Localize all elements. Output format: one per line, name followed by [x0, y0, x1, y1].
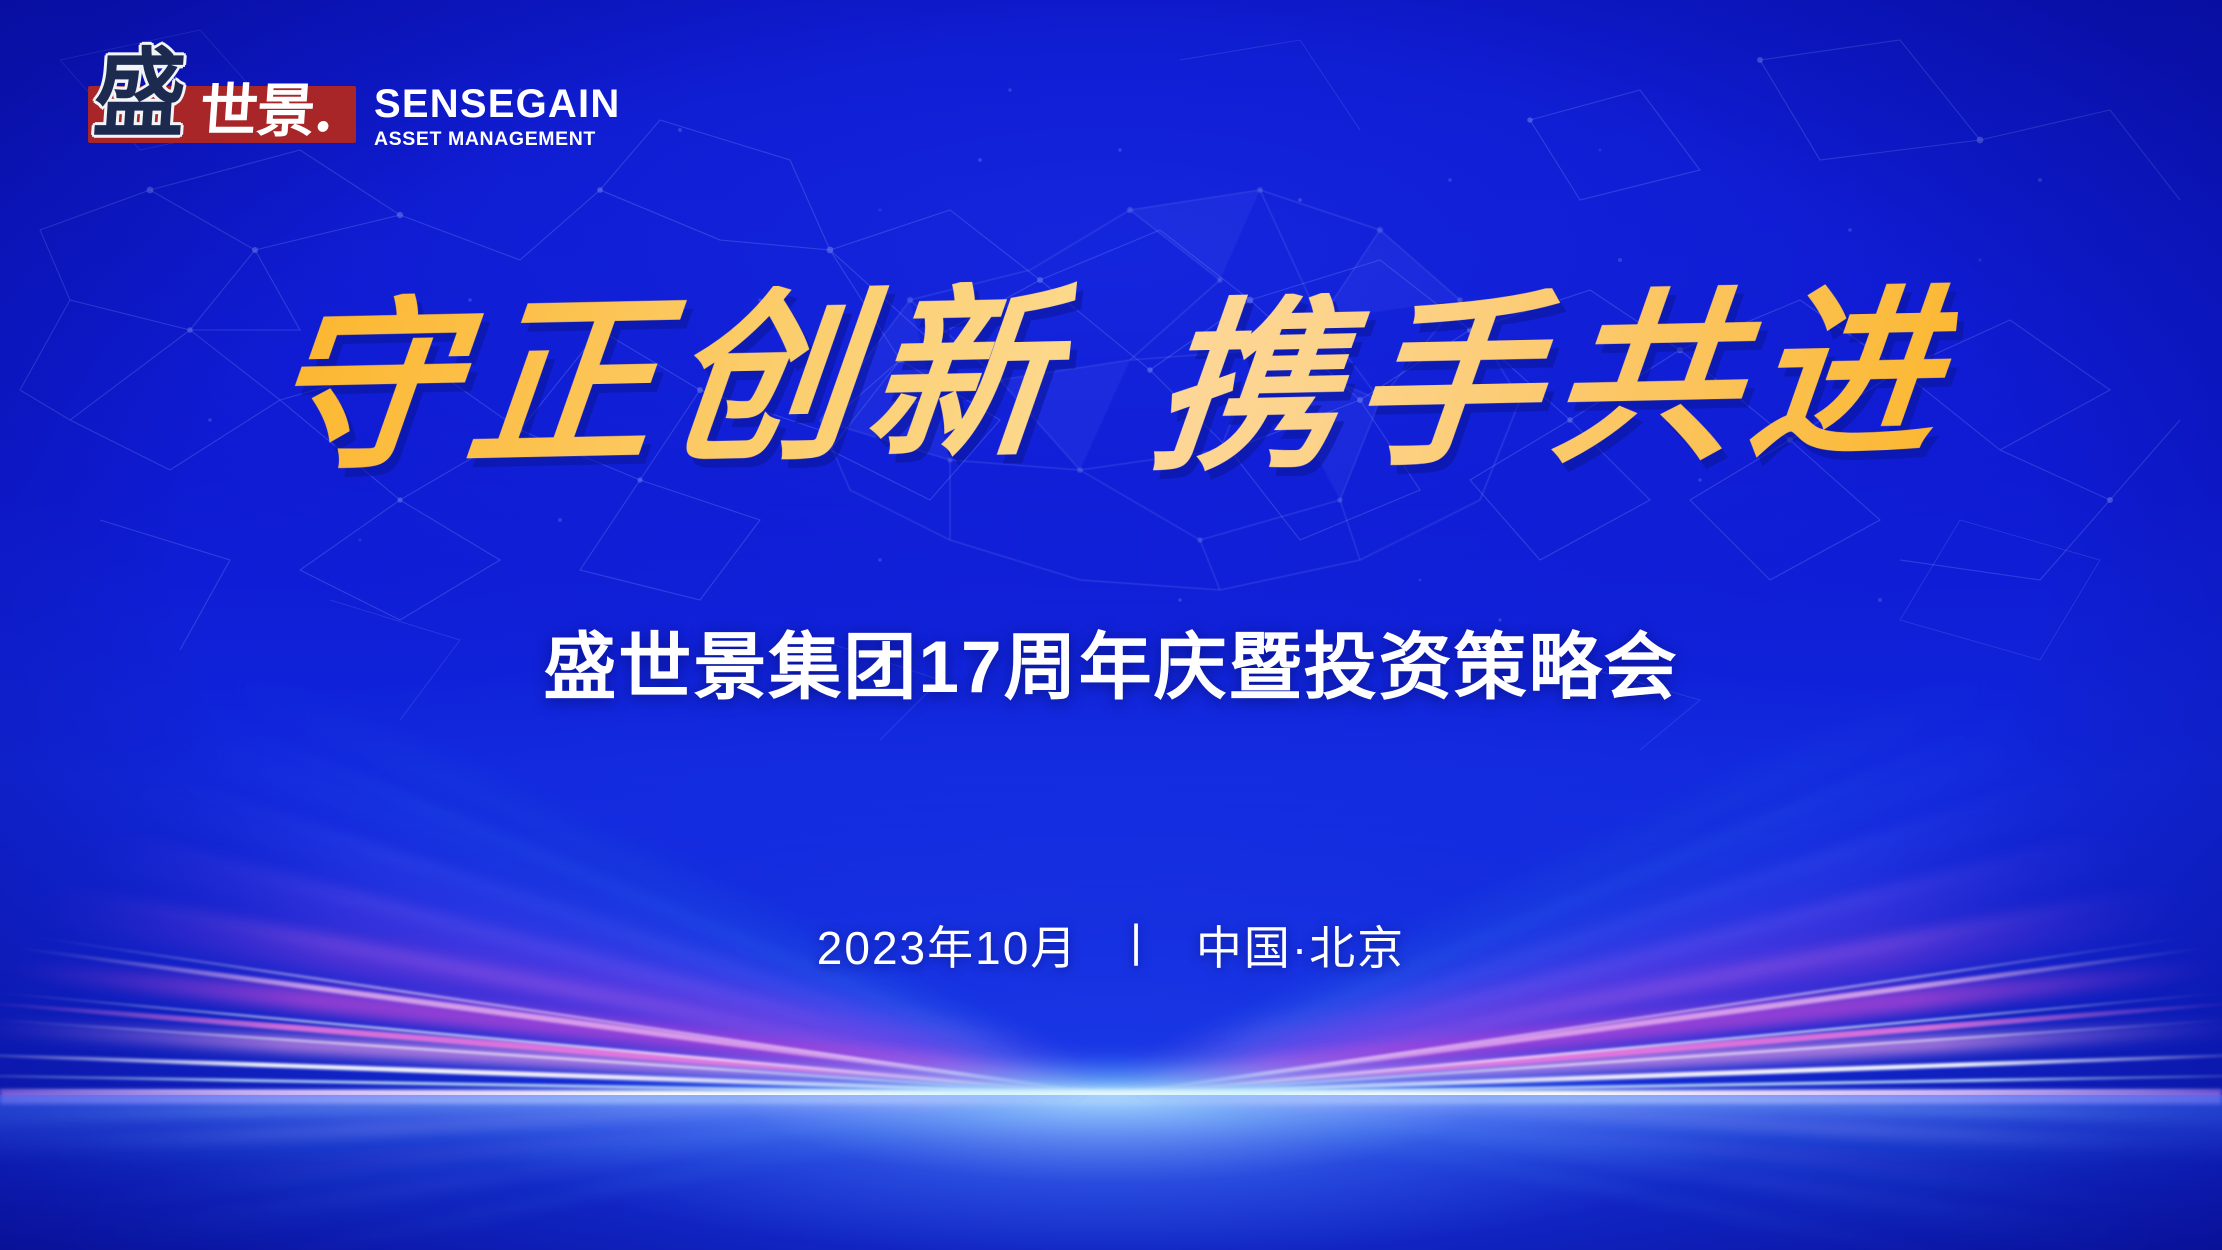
headline-calligraphy: 守正创新 携手共进 — [0, 288, 2222, 473]
brand-logo[interactable]: 盛 世景. SENSEGAIN ASSET MANAGEMENT — [88, 52, 508, 147]
floor-reflection — [0, 1095, 2222, 1250]
logo-english-tagline: ASSET MANAGEMENT — [374, 127, 620, 151]
logo-chinese-secondary: 世景. — [198, 82, 335, 140]
dateline-separator: 丨 — [1113, 910, 1161, 976]
event-banner: 盛 世景. SENSEGAIN ASSET MANAGEMENT 守正创新 携手… — [0, 0, 2222, 1250]
logo-english-block: SENSEGAIN ASSET MANAGEMENT — [374, 84, 620, 151]
headline-part-2: 携手共进 — [1145, 280, 1962, 482]
event-location: 中国·北京 — [1196, 922, 1405, 974]
event-subtitle: 盛世景集团17周年庆暨投资策略会 — [0, 608, 2222, 714]
headline-part-1: 守正创新 — [260, 280, 1077, 482]
logo-english-name: SENSEGAIN — [374, 84, 620, 125]
logo-chinese-primary: 盛 — [91, 46, 186, 143]
event-date: 2023年10月 — [817, 922, 1079, 974]
event-dateline: 2023年10月 丨 中国·北京 — [0, 912, 2222, 978]
